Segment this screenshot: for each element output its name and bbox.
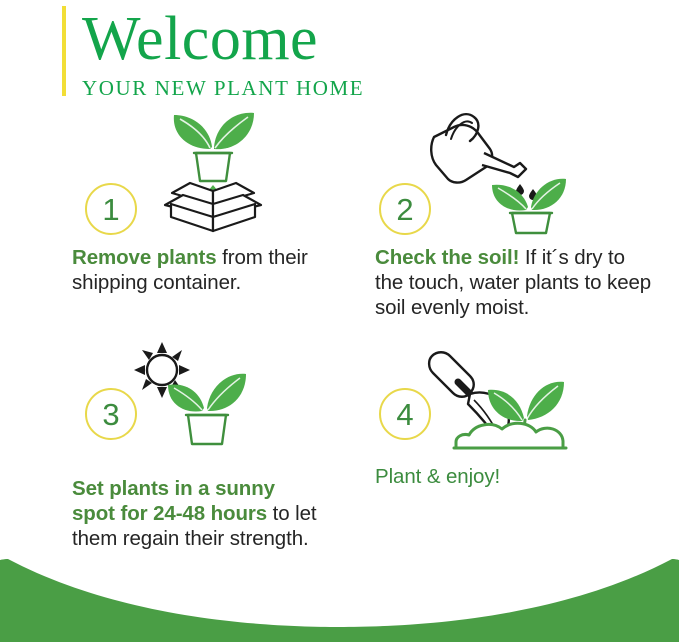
footer-wave (0, 532, 679, 642)
step-4-highlight: Plant & enjoy! (375, 465, 500, 488)
trowel-with-seedling-icon (420, 342, 590, 459)
step-3-visual: 3 (72, 340, 372, 470)
sun-with-plant-icon (122, 340, 267, 457)
box-with-plant-icon (150, 105, 275, 238)
step-4-text: Plant & enjoy! (375, 464, 655, 489)
step-2: 2 (375, 105, 675, 320)
step-1-visual: 1 (72, 105, 372, 235)
page-subtitle: YOUR NEW PLANT HOME (82, 76, 364, 100)
step-3-highlight: Set plants in a sunny spot for 24-48 hou… (72, 477, 275, 525)
step-2-highlight: Check the soil! (375, 246, 519, 269)
header-accent-bar (62, 6, 66, 96)
step-4: 4 (375, 340, 675, 489)
header: Welcome YOUR NEW PLANT HOME (62, 6, 364, 100)
step-4-visual: 4 (375, 340, 675, 458)
watering-can-icon (420, 105, 575, 240)
header-text-group: Welcome YOUR NEW PLANT HOME (82, 6, 364, 100)
step-1-number-badge: 1 (85, 183, 137, 235)
step-1-highlight: Remove plants (72, 246, 217, 269)
welcome-plant-care-card: Welcome YOUR NEW PLANT HOME 1 (0, 0, 679, 642)
page-title: Welcome (82, 8, 364, 70)
step-2-text: Check the soil! If it´s dry to the touch… (375, 245, 655, 320)
step-1: 1 (72, 105, 372, 295)
step-1-text: Remove plants from their shipping contai… (72, 245, 317, 295)
step-2-visual: 2 (375, 105, 675, 235)
step-3: 3 (72, 340, 372, 551)
